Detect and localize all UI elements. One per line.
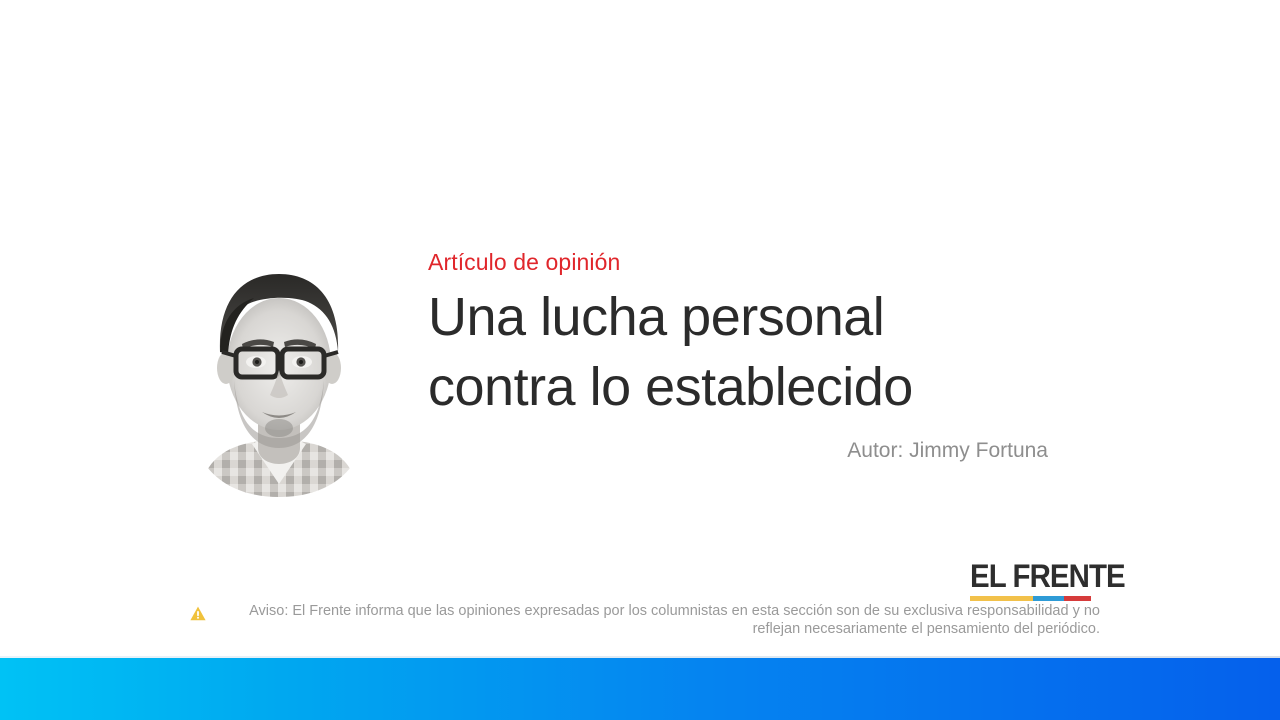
author-portrait-image bbox=[190, 252, 368, 497]
el-frente-logo: EL FRENTE bbox=[970, 560, 1098, 601]
disclaimer-text: Aviso: El Frente informa que las opinion… bbox=[214, 603, 1100, 638]
slide-canvas: Artículo de opinión Una lucha personal c… bbox=[0, 0, 1280, 720]
logo-bar-red bbox=[1064, 596, 1091, 601]
article-text-column: Artículo de opinión Una lucha personal c… bbox=[370, 240, 1110, 464]
article-header-block: Artículo de opinión Una lucha personal c… bbox=[190, 240, 1110, 510]
footer-gradient-bar bbox=[0, 658, 1280, 720]
warning-triangle-icon bbox=[190, 606, 206, 621]
logo-bar-yellow bbox=[970, 596, 1033, 601]
disclaimer-notice: Aviso: El Frente informa que las opinion… bbox=[190, 603, 1100, 638]
logo-bar-blue bbox=[1033, 596, 1064, 601]
author-portrait bbox=[190, 252, 370, 502]
article-kicker: Artículo de opinión bbox=[428, 248, 1110, 276]
article-author: Autor: Jimmy Fortuna bbox=[428, 438, 1110, 464]
logo-wordmark: EL FRENTE bbox=[970, 560, 1088, 592]
article-headline: Una lucha personal contra lo establecido bbox=[428, 282, 1110, 422]
logo-tricolor-bar bbox=[970, 596, 1091, 601]
